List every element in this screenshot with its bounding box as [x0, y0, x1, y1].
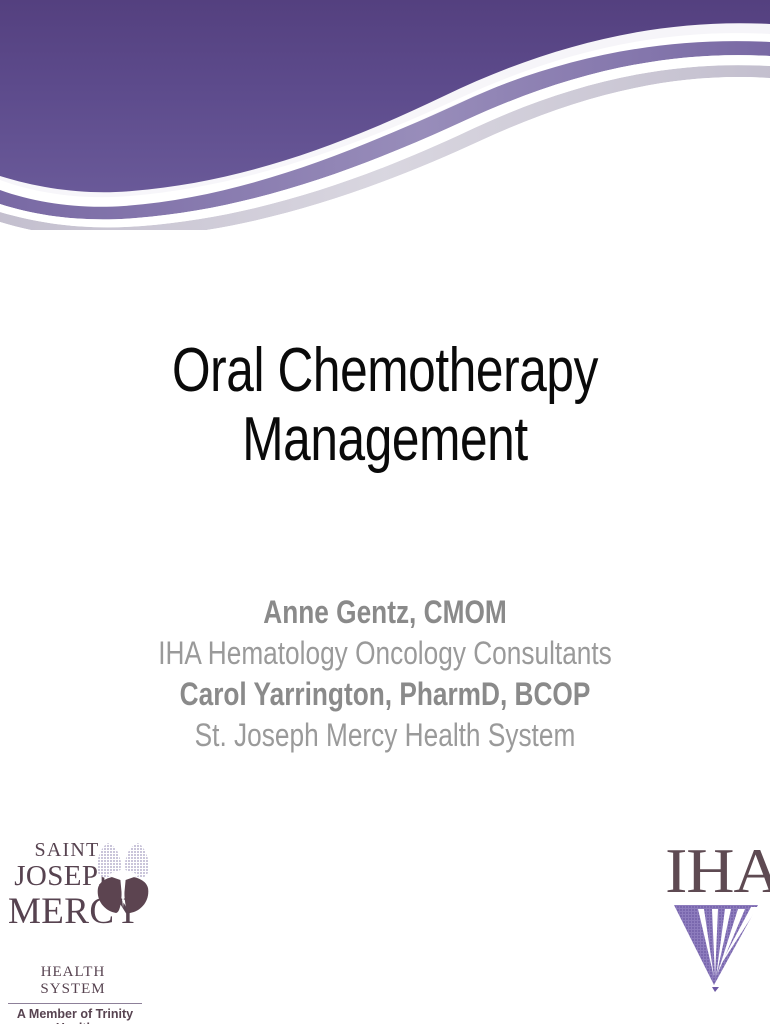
fan-tip-mark	[712, 987, 719, 992]
title-line-2: Management	[77, 405, 693, 474]
emblem-petal-lower-left	[98, 876, 122, 913]
sjm-line-health-system: HEALTH SYSTEM	[8, 964, 138, 998]
sjm-logo-upper: SAINT JOSEPH MERCY	[8, 840, 168, 960]
presenter-affiliation-2: St. Joseph Mercy Health System	[69, 715, 700, 756]
presenter-name-1: Anne Gentz, CMOM	[69, 592, 700, 633]
emblem-petal-lower-right	[124, 876, 148, 913]
iha-logo: IHA	[668, 842, 764, 1014]
sjm-divider-rule	[8, 1003, 142, 1004]
iha-wordmark: IHA	[665, 842, 767, 902]
presenter-list: Anne Gentz, CMOM IHA Hematology Oncology…	[0, 592, 770, 756]
presenter-affiliation-1: IHA Hematology Oncology Consultants	[69, 633, 700, 674]
presentation-title-slide: Oral Chemotherapy Management Anne Gentz,…	[0, 0, 770, 1024]
iha-fan-rays-icon	[668, 903, 764, 993]
title-line-1: Oral Chemotherapy	[77, 336, 693, 405]
sjm-line-trinity: A Member of Trinity Health	[8, 1007, 142, 1024]
saint-joseph-mercy-logo: SAINT JOSEPH MERCY	[8, 840, 168, 1018]
slide-title: Oral Chemotherapy Management	[0, 336, 770, 475]
presenter-name-2: Carol Yarrington, PharmD, BCOP	[69, 674, 700, 715]
header-swoosh-banner	[0, 0, 770, 230]
cross-leaf-emblem-icon	[92, 842, 154, 914]
